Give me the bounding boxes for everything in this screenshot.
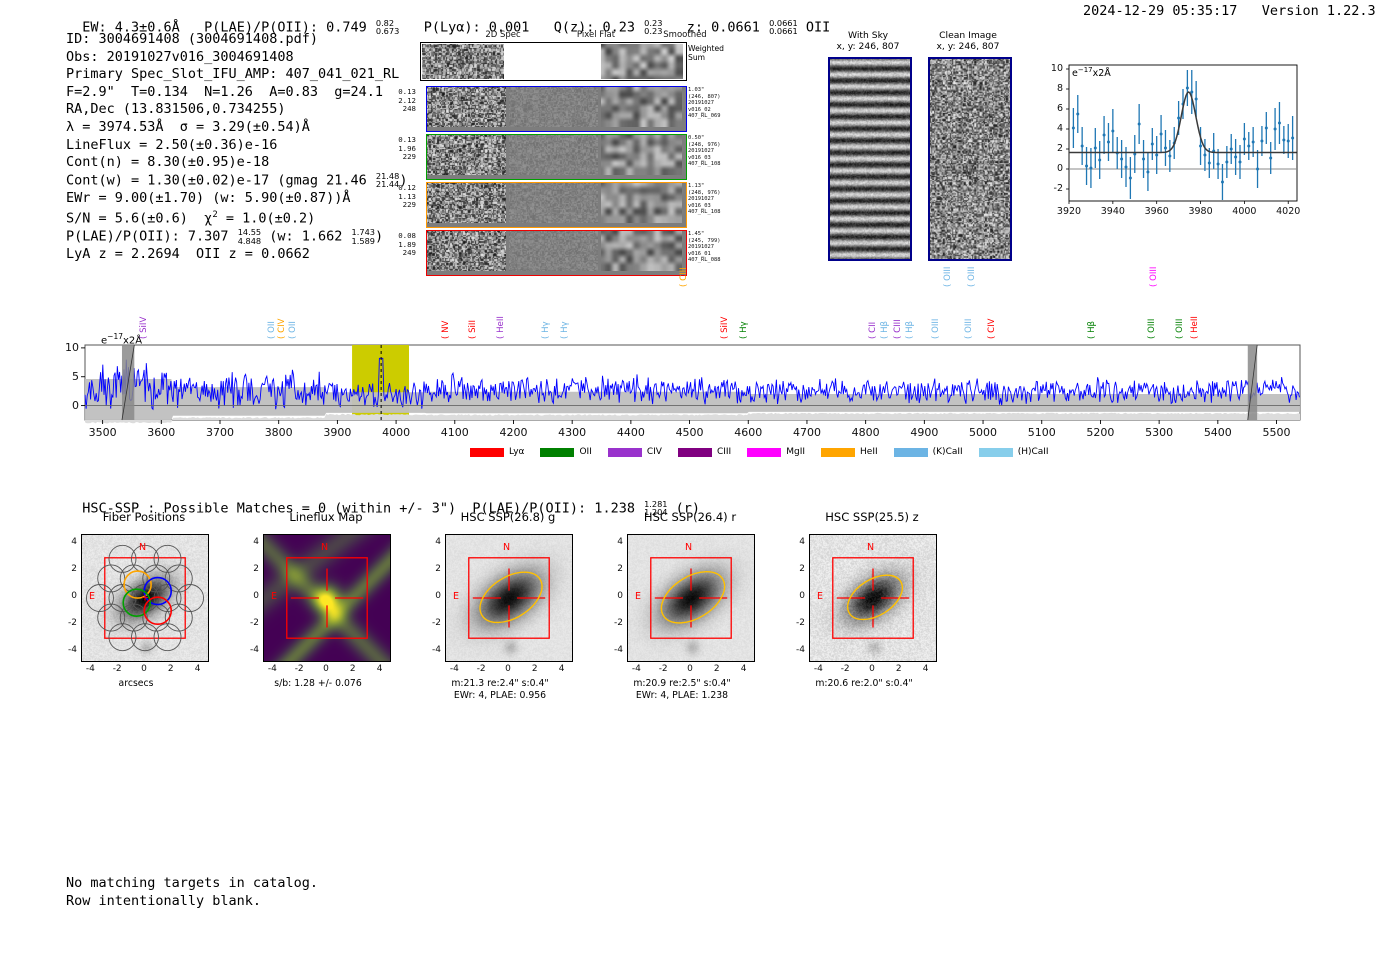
panel-ytick: -2 — [784, 618, 805, 628]
emission-line-label: ( OIII — [1147, 319, 1157, 339]
panel-ytick: 4 — [784, 537, 805, 547]
panel-overlay — [446, 535, 572, 661]
panel-ytick: 4 — [602, 537, 623, 547]
panel-hsc-ssp-g: HSC SSP(26.8) gNE-4-2024420-2-4m:21.3 re… — [420, 510, 596, 710]
panel-ytick: 0 — [420, 591, 441, 601]
legend-label: CIV — [647, 447, 662, 457]
panel-ytick: 0 — [602, 591, 623, 601]
panel-xtick: -4 — [624, 664, 648, 674]
panel-title: Lineflux Map — [238, 510, 414, 524]
panel-image — [809, 534, 937, 662]
panel-xtick: 0 — [496, 664, 520, 674]
footer-note: No matching targets in catalog. Row inte… — [66, 874, 318, 910]
panel-overlay — [628, 535, 754, 661]
panel-ytick: -4 — [420, 645, 441, 655]
panel-caption-2: EWr: 4, PLAE: 1.238 — [594, 690, 770, 702]
full-spectrum-panel: 3500360037003800390040004100420043004400… — [0, 0, 1400, 470]
spectrum-legend: LyαOIICIVCIIIMgIIHeII(K)CaII(H)CaII — [470, 447, 1065, 458]
emission-line-label: ( Hγ — [541, 321, 551, 339]
emission-line-label: ( SiIV — [139, 317, 149, 339]
east-label: E — [635, 591, 641, 602]
panel-xtick: -2 — [651, 664, 675, 674]
panel-xtick: 2 — [341, 664, 365, 674]
panel-ytick: 2 — [784, 564, 805, 574]
panel-xtick: 2 — [523, 664, 547, 674]
footer-line-2: Row intentionally blank. — [66, 892, 318, 910]
source-ellipse — [471, 562, 551, 633]
legend-swatch — [608, 448, 642, 457]
emission-line-label: ( OIII — [943, 267, 953, 287]
panel-xtick: -4 — [78, 664, 102, 674]
legend-swatch — [540, 448, 574, 457]
emission-line-label: ( Hγ — [739, 321, 749, 339]
panel-ytick: 4 — [56, 537, 77, 547]
panel-image: + — [81, 534, 209, 662]
north-label: N — [867, 542, 874, 553]
panel-ytick: 0 — [56, 591, 77, 601]
emission-line-label: ( CIV — [277, 319, 287, 340]
panel-overlay — [264, 535, 390, 661]
panel-ytick: 2 — [420, 564, 441, 574]
panel-caption-1: arcsecs — [48, 678, 224, 690]
panel-ytick: 2 — [602, 564, 623, 574]
legend-swatch — [979, 448, 1013, 457]
emission-line-label: ( SiII — [468, 320, 478, 339]
emission-line-label: ( SiIV — [720, 317, 730, 339]
emission-line-label: ( OII — [267, 321, 277, 339]
panel-xtick: 0 — [132, 664, 156, 674]
target-cross: + — [142, 591, 149, 604]
legend-label: Lyα — [509, 447, 524, 457]
panel-xtick: 2 — [705, 664, 729, 674]
panel-ytick: 0 — [238, 591, 259, 601]
emission-line-label: ( OIII — [1175, 319, 1185, 339]
panel-xtick: 4 — [550, 664, 574, 674]
north-label: N — [685, 542, 692, 553]
legend-label: (H)CaII — [1018, 447, 1049, 457]
north-label: N — [139, 542, 146, 553]
east-label: E — [89, 591, 95, 602]
full-spectrum-svg — [0, 0, 1400, 470]
east-label: E — [817, 591, 823, 602]
panel-xtick: 0 — [860, 664, 884, 674]
legend-label: HeII — [860, 447, 878, 457]
source-ellipse — [652, 561, 733, 633]
panel-ytick: 4 — [420, 537, 441, 547]
panel-xtick: 2 — [887, 664, 911, 674]
panel-xtick: -4 — [260, 664, 284, 674]
panel-xtick: 4 — [732, 664, 756, 674]
emission-line-label: ( Hγ — [560, 321, 570, 339]
footer-line-1: No matching targets in catalog. — [66, 874, 318, 892]
panel-ytick: 2 — [238, 564, 259, 574]
panel-ytick: 4 — [238, 537, 259, 547]
panel-xtick: 0 — [314, 664, 338, 674]
north-label: N — [321, 542, 328, 553]
emission-line-label: ( OIII — [967, 267, 977, 287]
emission-line-label: ( OII — [288, 321, 298, 339]
panel-xtick: -2 — [469, 664, 493, 674]
panel-xtick: -2 — [287, 664, 311, 674]
panel-xtick: -2 — [833, 664, 857, 674]
emission-line-label: ( Hβ — [905, 321, 915, 339]
legend-swatch — [821, 448, 855, 457]
emission-line-label: ( CIV — [987, 319, 997, 340]
east-label: E — [271, 591, 277, 602]
panel-ytick: 0 — [784, 591, 805, 601]
emission-line-label: ( NV — [441, 321, 451, 339]
panel-xtick: -2 — [105, 664, 129, 674]
spectrum-units-label: e−17x2Å — [101, 332, 142, 346]
legend-swatch — [470, 448, 504, 457]
panel-hsc-ssp-r: HSC SSP(26.4) rNE-4-2024420-2-4m:20.9 re… — [602, 510, 778, 710]
cutout-panel-row: Fiber Positions+NE-4-2024420-2-4arcsecsL… — [56, 510, 1056, 725]
panel-ytick: -4 — [56, 645, 77, 655]
east-label: E — [453, 591, 459, 602]
panel-title: HSC SSP(26.8) g — [420, 510, 596, 524]
panel-ytick: -4 — [784, 645, 805, 655]
legend-label: OII — [579, 447, 591, 457]
panel-xtick: 4 — [186, 664, 210, 674]
panel-xtick: 4 — [368, 664, 392, 674]
emission-line-label: ( Hβ — [1087, 321, 1097, 339]
emission-line-label: ( HeII — [496, 316, 506, 339]
panel-xtick: 4 — [914, 664, 938, 674]
emission-line-label: ( CIII — [893, 319, 903, 339]
panel-ytick: -4 — [238, 645, 259, 655]
legend-swatch — [678, 448, 712, 457]
legend-label: (K)CaII — [933, 447, 963, 457]
north-label: N — [503, 542, 510, 553]
panel-ytick: -2 — [602, 618, 623, 628]
panel-ytick: 2 — [56, 564, 77, 574]
emission-line-label: ( Hβ — [880, 321, 890, 339]
source-ellipse — [840, 566, 910, 629]
panel-xtick: -4 — [442, 664, 466, 674]
panel-image — [627, 534, 755, 662]
emission-line-label: ( CIII — [679, 267, 689, 287]
emission-line-label: ( OIII — [931, 319, 941, 339]
panel-ytick: -2 — [56, 618, 77, 628]
panel-caption-1: m:21.3 re:2.4" s:0.4" — [412, 678, 588, 690]
panel-ytick: -2 — [238, 618, 259, 628]
panel-fiber-positions: Fiber Positions+NE-4-2024420-2-4arcsecs — [56, 510, 232, 710]
emission-line-label: ( CII — [868, 322, 878, 339]
panel-overlay — [810, 535, 936, 661]
panel-caption-2: EWr: 4, PLAE: 0.956 — [412, 690, 588, 702]
panel-lineflux-map: Lineflux MapNE-4-2024420-2-4s/b: 1.28 +/… — [238, 510, 414, 710]
panel-title: HSC SSP(25.5) z — [784, 510, 960, 524]
panel-image — [445, 534, 573, 662]
panel-ytick: -4 — [602, 645, 623, 655]
panel-caption-1: m:20.6 re:2.0" s:0.4" — [776, 678, 952, 690]
panel-xtick: -4 — [806, 664, 830, 674]
panel-image — [263, 534, 391, 662]
panel-xtick: 0 — [678, 664, 702, 674]
emission-line-label: ( OIII — [1149, 267, 1159, 287]
panel-title: HSC SSP(26.4) r — [602, 510, 778, 524]
legend-swatch — [894, 448, 928, 457]
legend-swatch — [747, 448, 781, 457]
panel-hsc-ssp-z: HSC SSP(25.5) zNE-4-2024420-2-4m:20.6 re… — [784, 510, 960, 710]
emission-line-label: ( HeII — [1190, 316, 1200, 339]
legend-label: CIII — [717, 447, 731, 457]
panel-overlay: + — [82, 535, 208, 661]
panel-xtick: 2 — [159, 664, 183, 674]
panel-caption-1: m:20.9 re:2.5" s:0.4" — [594, 678, 770, 690]
panel-caption-1: s/b: 1.28 +/- 0.076 — [230, 678, 406, 690]
emission-line-label: ( OIII — [964, 319, 974, 339]
panel-title: Fiber Positions — [56, 510, 232, 524]
panel-ytick: -2 — [420, 618, 441, 628]
legend-label: MgII — [786, 447, 805, 457]
